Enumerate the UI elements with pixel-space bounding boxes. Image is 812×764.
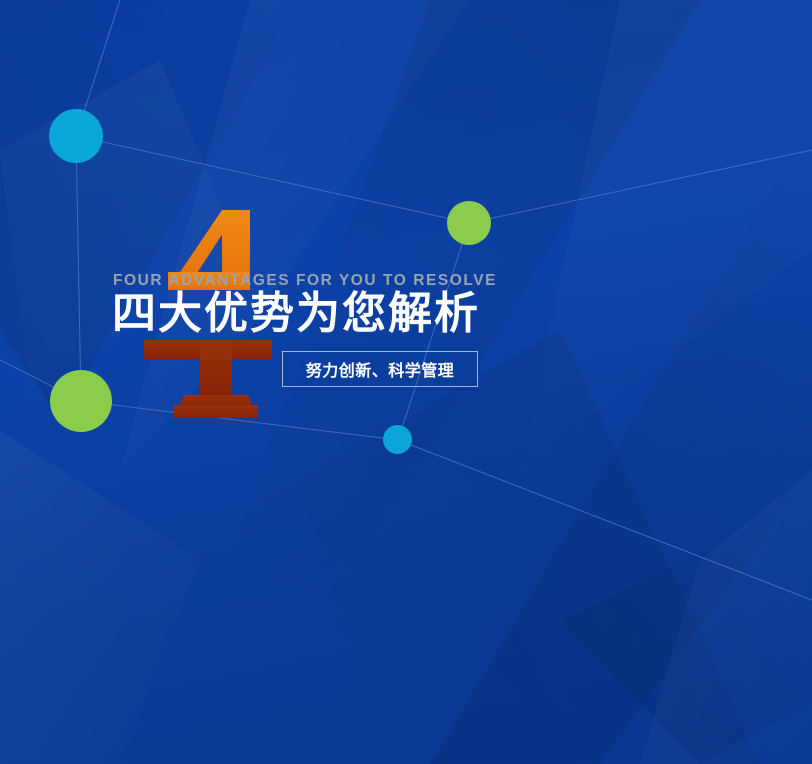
node-cyan-top-left (49, 109, 103, 163)
promo-banner: FOUR ADVANTAGES FOR YOU TO RESOLVE 四大优势为… (0, 0, 812, 764)
banner-subtitle-box: 努力创新、科学管理 (282, 351, 478, 387)
banner-headline: 四大优势为您解析 (112, 292, 480, 336)
pedestal-shape (144, 340, 272, 418)
banner-content: FOUR ADVANTAGES FOR YOU TO RESOLVE 四大优势为… (112, 200, 532, 430)
node-green-bottom-left (50, 370, 112, 432)
banner-subtitle: 努力创新、科学管理 (306, 357, 455, 381)
